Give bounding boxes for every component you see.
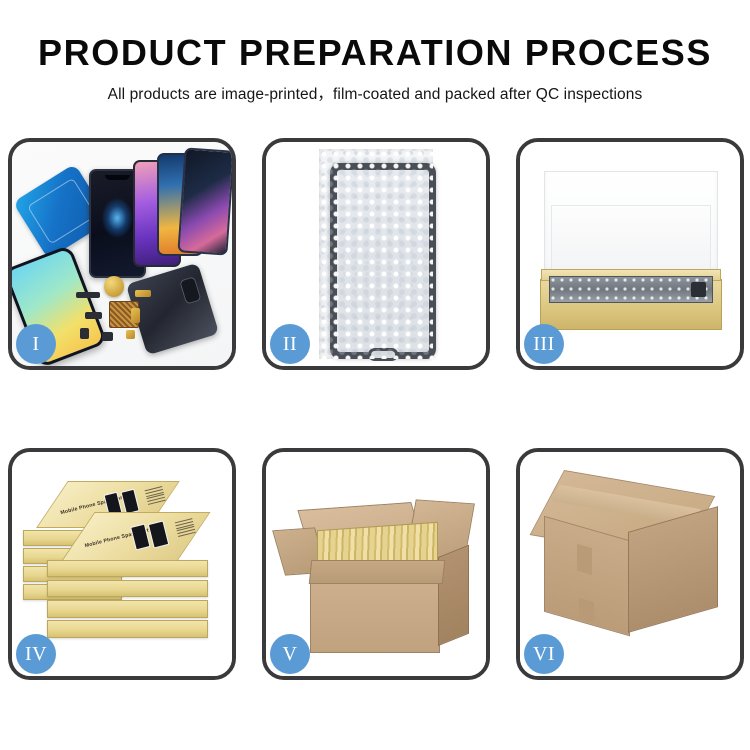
stacked-box-r1 [47, 560, 207, 578]
step-3-image: III [520, 142, 740, 366]
carton-tape-strip-1 [577, 544, 592, 575]
gold-flex-2 [131, 308, 140, 324]
step-6-image: VI [520, 452, 740, 676]
process-step-4[interactable]: Mobile Phone Spare Parts Mobile Phone Sp… [8, 448, 236, 680]
bubble-wrap-sheet [319, 149, 433, 360]
box-phone-image-1b [120, 489, 139, 514]
step-1-image: I [12, 142, 232, 366]
carton-flap-front [309, 560, 446, 584]
gold-flex-3 [126, 330, 135, 339]
step-badge-1: I [16, 324, 56, 364]
box-spec-lines-2 [175, 518, 197, 539]
step-badge-4: IV [16, 634, 56, 674]
wave-pattern-display [178, 147, 232, 255]
process-step-6[interactable]: VI [516, 448, 744, 680]
gold-flex-1 [135, 290, 150, 297]
small-chip-3 [80, 328, 89, 339]
step-5-image: V [266, 452, 486, 676]
step-badge-6: VI [524, 634, 564, 674]
small-chip-1 [76, 292, 100, 298]
stacked-box-r3 [47, 600, 207, 618]
step-2-image: II [266, 142, 486, 366]
step-4-image: Mobile Phone Spare Parts Mobile Phone Sp… [12, 452, 232, 676]
page-header: PRODUCT PREPARATION PROCESS All products… [0, 0, 750, 104]
page-title: PRODUCT PREPARATION PROCESS [0, 34, 750, 72]
stacked-box-r2 [47, 580, 207, 598]
step-badge-5: V [270, 634, 310, 674]
wrapped-screen [330, 163, 436, 358]
small-chip-4 [102, 332, 113, 341]
step-badge-2: II [270, 324, 310, 364]
process-step-3[interactable]: III [516, 138, 744, 370]
page-subtitle: All products are image-printed，film-coat… [0, 82, 750, 104]
gold-component [104, 276, 124, 296]
step-badge-3: III [524, 324, 564, 364]
box-phone-image-2b [147, 521, 168, 549]
process-step-1[interactable]: I [8, 138, 236, 370]
packed-screen [549, 276, 714, 303]
small-chip-2 [85, 312, 103, 319]
stacked-box-r4 [47, 620, 207, 638]
process-step-grid: I II III [8, 138, 742, 680]
carton-tape-strip-2 [579, 598, 594, 623]
process-step-2[interactable]: II [262, 138, 490, 370]
process-step-5[interactable]: V [262, 448, 490, 680]
box-spec-lines-1 [144, 486, 165, 507]
